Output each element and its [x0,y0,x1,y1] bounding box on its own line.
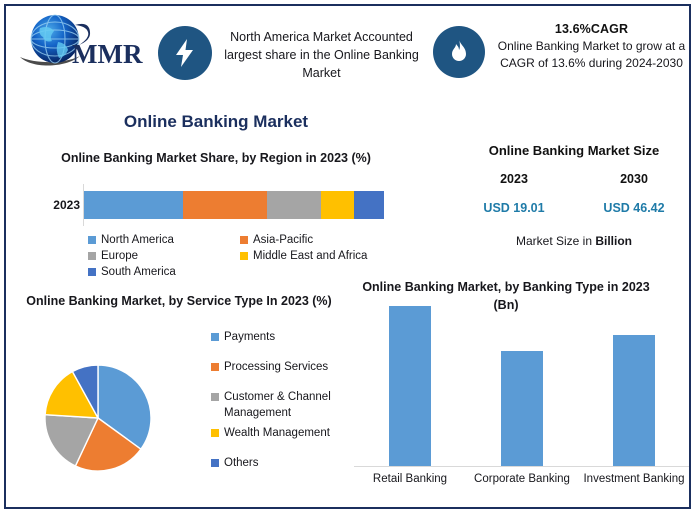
bar [501,351,543,466]
region-chart-plot [84,191,384,219]
market-size-unit-bold: Billion [595,234,632,248]
legend-label: Customer & Channel Management [224,389,361,421]
banking-type-axis [354,466,690,467]
service-type-chart-title: Online Banking Market, by Service Type I… [14,292,344,310]
region-segment [183,191,267,219]
legend-item-asia-pacific[interactable]: Asia-Pacific [240,232,388,248]
legend-swatch [211,363,219,371]
legend-row: North America Asia-Pacific [88,232,388,248]
market-size-year-2023: 2023 [454,172,574,186]
bar-column [578,296,690,466]
banking-type-chart-plot [354,296,690,466]
legend-item-south-america[interactable]: South America [88,264,240,280]
legend-item-payments[interactable]: Payments [211,329,361,345]
legend-swatch [211,393,219,401]
infographic-page: MMR North America Market Accounted large… [0,0,695,513]
bar-column [466,296,578,466]
legend-swatch [240,236,248,244]
legend-item-others[interactable]: Others [211,455,361,471]
cagr-description: Online Banking Market to grow at a CAGR … [489,38,691,72]
north-america-callout-text: North America Market Accounted largest s… [214,28,429,82]
legend-swatch [88,252,96,260]
infographic-frame: MMR North America Market Accounted large… [4,4,691,509]
legend-swatch [211,459,219,467]
svg-text:MMR: MMR [72,39,143,69]
legend-label: Processing Services [224,359,328,375]
legend-row: Europe Middle East and Africa [88,248,388,264]
legend-row: South America [88,264,388,280]
region-segment [354,191,384,219]
service-type-pie-chart [44,364,152,472]
market-size-year-2030: 2030 [574,172,691,186]
market-size-values: USD 19.01 USD 46.42 [454,201,691,215]
cagr-headline: 13.6%CAGR [489,22,691,36]
legend-item-middle-east-africa[interactable]: Middle East and Africa [240,248,388,264]
bar [389,306,431,466]
legend-item-europe[interactable]: Europe [88,248,240,264]
legend-swatch [211,429,219,437]
region-segment [321,191,354,219]
flame-icon [433,26,485,78]
cagr-callout: 13.6%CAGR Online Banking Market to grow … [489,22,691,72]
legend-label: Middle East and Africa [253,250,367,262]
banking-type-axis-labels: Retail Banking Corporate Banking Investm… [354,471,690,487]
legend-label: Asia-Pacific [253,234,313,246]
bar-column [354,296,466,466]
legend-swatch [240,252,248,260]
axis-label-corporate-banking: Corporate Banking [466,471,578,487]
region-chart-legend: North America Asia-Pacific Europe Middle… [88,232,388,280]
market-size-title: Online Banking Market Size [454,143,691,158]
legend-label: Wealth Management [224,425,330,441]
legend-label: Payments [224,329,275,345]
market-size-unit-prefix: Market Size in [516,234,595,248]
market-size-value-2023: USD 19.01 [454,201,574,215]
region-segment [267,191,321,219]
service-type-legend: Payments Processing Services Customer & … [211,329,361,485]
legend-swatch [88,236,96,244]
region-chart-title: Online Banking Market Share, by Region i… [36,149,396,167]
legend-item-customer-channel-management[interactable]: Customer & Channel Management [211,389,361,421]
legend-item-wealth-management[interactable]: Wealth Management [211,425,361,441]
axis-label-investment-banking: Investment Banking [578,471,690,487]
lightning-bolt-icon [158,26,212,80]
page-title: Online Banking Market [6,112,426,132]
market-size-unit: Market Size in Billion [454,234,691,248]
market-size-value-2030: USD 46.42 [574,201,691,215]
legend-label: Others [224,455,259,471]
region-chart-category-label: 2023 [34,198,80,212]
legend-label: Europe [101,250,138,262]
banking-type-bars [354,296,690,466]
axis-label-retail-banking: Retail Banking [354,471,466,487]
mmr-globe-logo: MMR [14,12,154,74]
bar [613,335,655,466]
legend-label: South America [101,266,176,278]
region-segment [84,191,183,219]
legend-label: North America [101,234,174,246]
legend-item-north-america[interactable]: North America [88,232,240,248]
legend-swatch [88,268,96,276]
region-stacked-bar [84,191,384,219]
market-size-years: 2023 2030 [454,172,691,186]
legend-swatch [211,333,219,341]
legend-item-processing-services[interactable]: Processing Services [211,359,361,375]
